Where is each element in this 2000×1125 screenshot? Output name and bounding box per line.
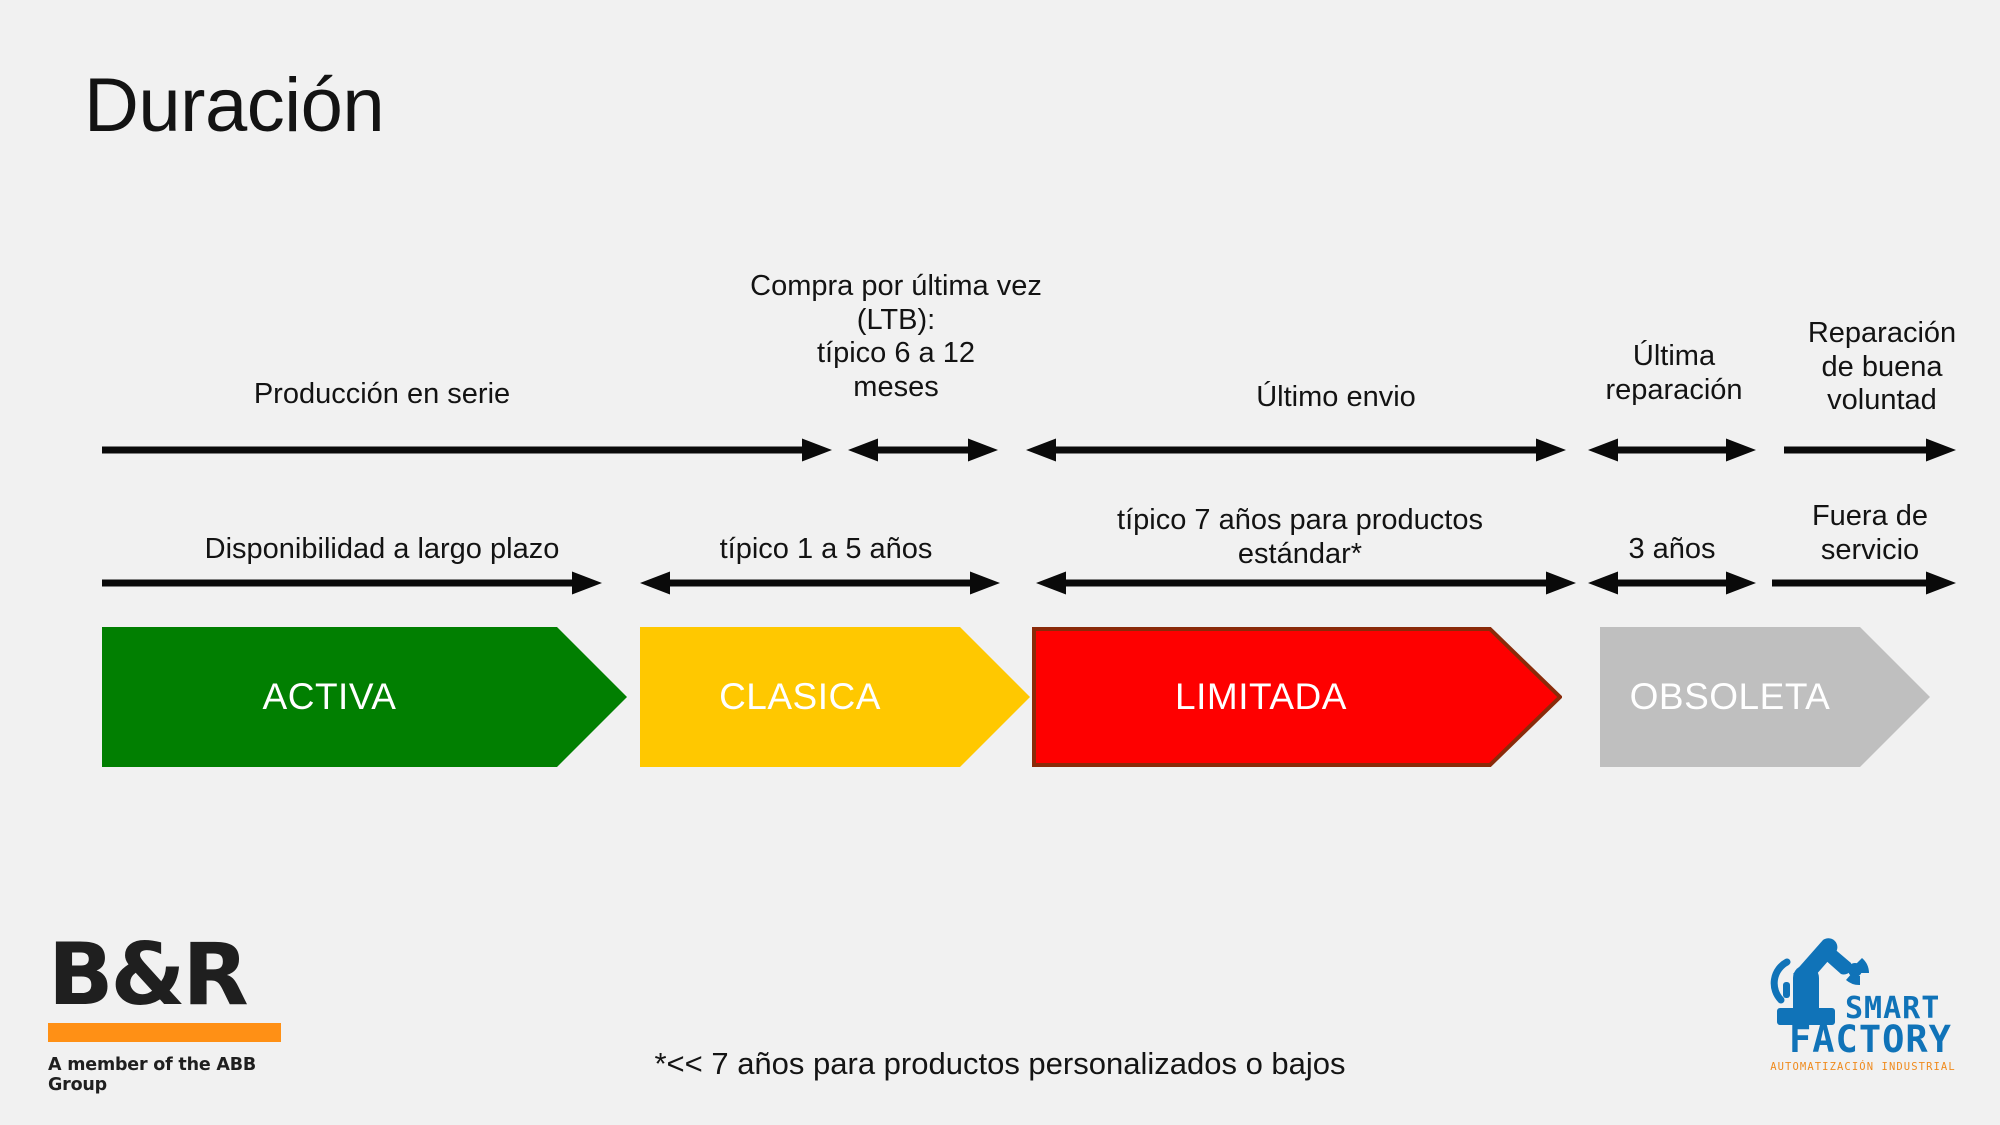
row1-arrow-4-right bbox=[1784, 439, 1956, 461]
row2-label-2: típico 7 años para productos estándar* bbox=[1040, 504, 1560, 580]
phase-chevron-clasica[interactable] bbox=[640, 627, 1030, 767]
br-logo: B&R A member of the ABB Group bbox=[48, 936, 288, 1095]
row2-arrow-4-right bbox=[1772, 572, 1956, 594]
row2-arrow-2-both bbox=[1036, 572, 1576, 594]
br-tagline: A member of the ABB Group bbox=[48, 1055, 288, 1095]
sf-line3: AUTOMATIZACIÓN INDUSTRIAL bbox=[1770, 1060, 1956, 1073]
row2-label-1: típico 1 a 5 años bbox=[640, 533, 1012, 577]
smart-factory-logo: SMART FACTORY AUTOMATIZACIÓN INDUSTRIAL bbox=[1763, 930, 1963, 1080]
lifecycle-phase-band: ACTIVA CLASICA LIMITADA OBSOL bbox=[0, 627, 2000, 767]
row1-arrow-3-both bbox=[1588, 439, 1756, 461]
row2-arrow-1-both bbox=[640, 572, 1000, 594]
sf-line2: FACTORY bbox=[1789, 1018, 1952, 1061]
row2-label-4: Fuera de servicio bbox=[1772, 500, 1968, 580]
phase-chevron-obsoleta[interactable] bbox=[1600, 627, 1930, 767]
row2-label-3: 3 años bbox=[1588, 533, 1756, 577]
row2-label-0: Disponibilidad a largo plazo bbox=[102, 533, 662, 577]
phase-chevron-limitada[interactable] bbox=[1032, 627, 1562, 767]
row1-label-4: Reparación de buena voluntad bbox=[1776, 317, 1988, 424]
slide-canvas: Duración Producción en serie Compra por … bbox=[0, 0, 2000, 1125]
row1-label-2: Último envio bbox=[1116, 381, 1556, 423]
row1-arrow-2-both bbox=[1026, 439, 1566, 461]
br-orange-bar bbox=[48, 1023, 281, 1042]
row2-arrow-0-right bbox=[102, 572, 602, 594]
br-wordmark: B&R bbox=[48, 936, 288, 1015]
row1-label-0: Producción en serie bbox=[102, 378, 662, 424]
row1-label-3: Última reparación bbox=[1578, 340, 1770, 424]
row1-arrow-0-right bbox=[102, 439, 832, 461]
lifecycle-timeline-diagram: Producción en serie Compra por última ve… bbox=[0, 0, 2000, 1125]
footnote-text: *<< 7 años para productos personalizados… bbox=[0, 1046, 2000, 1082]
phase-chevron-activa[interactable] bbox=[102, 627, 627, 767]
row2-arrow-3-both bbox=[1588, 572, 1756, 594]
row1-label-1: Compra por última vez (LTB): típico 6 a … bbox=[700, 270, 1092, 424]
row1-arrow-1-both bbox=[848, 439, 998, 461]
